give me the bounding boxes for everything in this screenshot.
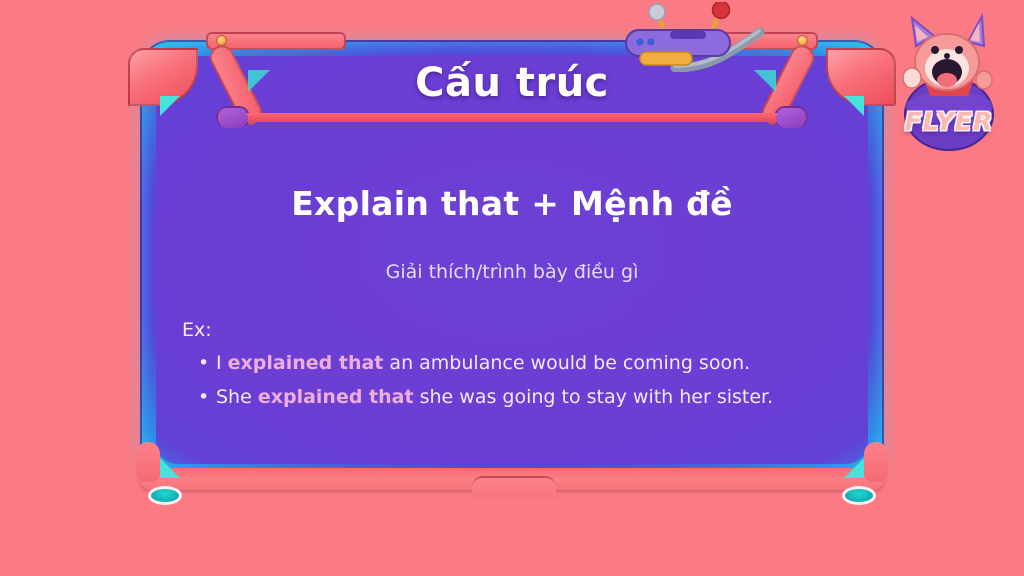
- list-item: I explained that an ambulance would be c…: [216, 347, 864, 381]
- flyer-logo: FLYER: [890, 6, 1008, 154]
- title-underline-bar: [240, 113, 784, 122]
- spaceship-gadget-icon: [612, 2, 792, 72]
- slide-canvas: Cấu trúc Explain that + Mệnh đề Giải thí…: [0, 0, 1024, 576]
- knob-right-icon: [842, 486, 876, 505]
- examples-section: Ex: I explained that an ambulance would …: [160, 319, 864, 415]
- knob-left-icon: [148, 486, 182, 505]
- main-content: Explain that + Mệnh đề Giải thích/trình …: [160, 150, 864, 415]
- example-prefix: I: [216, 352, 228, 374]
- frame-bottom-tab: [472, 476, 556, 498]
- page-title: Cấu trúc: [0, 60, 1024, 106]
- structure-heading: Explain that + Mệnh đề: [160, 184, 864, 223]
- list-item: She explained that she was going to stay…: [216, 381, 864, 415]
- flyer-logo-text: FLYER: [890, 107, 1008, 136]
- structure-subtitle: Giải thích/trình bày điều gì: [160, 261, 864, 283]
- example-prefix: She: [216, 386, 258, 408]
- examples-label: Ex:: [182, 319, 864, 341]
- example-highlight: explained that: [258, 386, 414, 408]
- example-suffix: she was going to stay with her sister.: [414, 386, 774, 408]
- example-highlight: explained that: [228, 352, 384, 374]
- example-suffix: an ambulance would be coming soon.: [383, 352, 750, 374]
- examples-list: I explained that an ambulance would be c…: [182, 347, 864, 415]
